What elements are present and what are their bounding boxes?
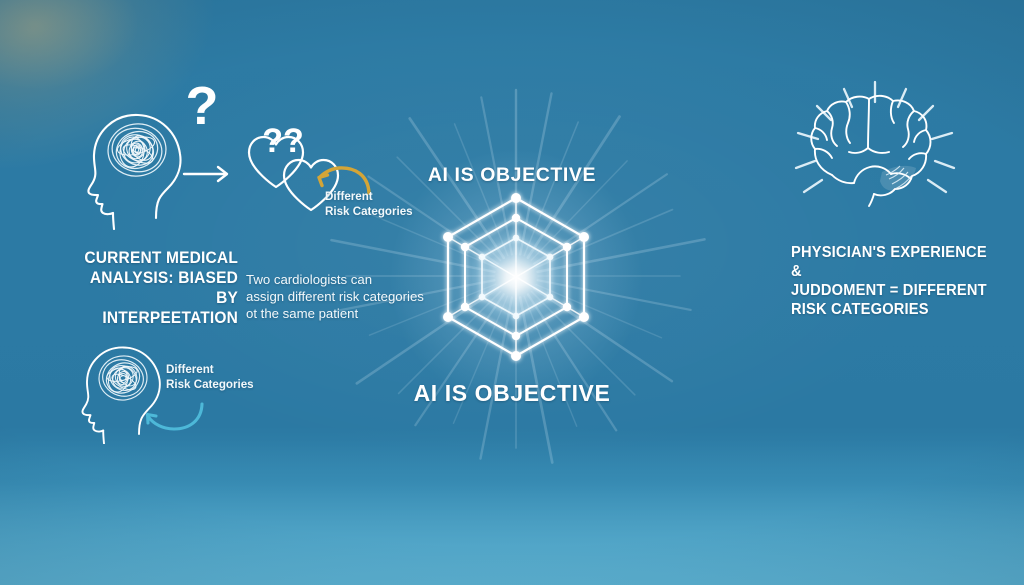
left-heading-line-2: ANALYSIS: BIASED BY bbox=[69, 268, 238, 308]
svg-text:??: ?? bbox=[262, 122, 304, 160]
center-caption-line-3: ot the same patient bbox=[246, 306, 441, 323]
left-heading-line-3: INTERPEETATION bbox=[69, 308, 238, 328]
question-mark-icon: ? bbox=[180, 78, 224, 145]
hearts-label: Different Risk Categories bbox=[325, 190, 435, 220]
right-heading-line-1: PHYSICIAN'S EXPERIENCE & bbox=[791, 243, 993, 281]
left-heading: CURRENT MEDICAL ANALYSIS: BIASED BY INTE… bbox=[69, 248, 238, 329]
radiating-brain-icon bbox=[782, 80, 968, 217]
center-caption-line-2: assign different risk categories bbox=[246, 289, 441, 306]
double-question-mark-icon: ?? bbox=[258, 122, 308, 167]
head2-label-line-1: Different bbox=[166, 363, 276, 378]
left-heading-line-1: CURRENT MEDICAL bbox=[69, 248, 238, 268]
right-heading-line-3: RISK CATEGORIES bbox=[791, 300, 993, 319]
hearts-label-line-1: Different bbox=[325, 190, 435, 205]
hearts-label-line-2: Risk Categories bbox=[325, 205, 435, 220]
center-caption: Two cardiologists can assign different r… bbox=[246, 272, 441, 323]
right-heading: PHYSICIAN'S EXPERIENCE & JUDDOMENT = DIF… bbox=[791, 243, 993, 319]
ai-headline-top: AI IS OBJECTIVE bbox=[0, 164, 1024, 188]
right-heading-line-2: JUDDOMENT = DIFFERENT bbox=[791, 281, 993, 300]
center-caption-line-1: Two cardiologists can bbox=[246, 272, 441, 289]
ai-headline-bottom: AI IS OBJECTIVE bbox=[0, 379, 1024, 407]
infographic-canvas: ? ?? bbox=[0, 0, 1024, 585]
glow-core-light bbox=[466, 230, 566, 326]
svg-text:?: ? bbox=[186, 78, 219, 136]
